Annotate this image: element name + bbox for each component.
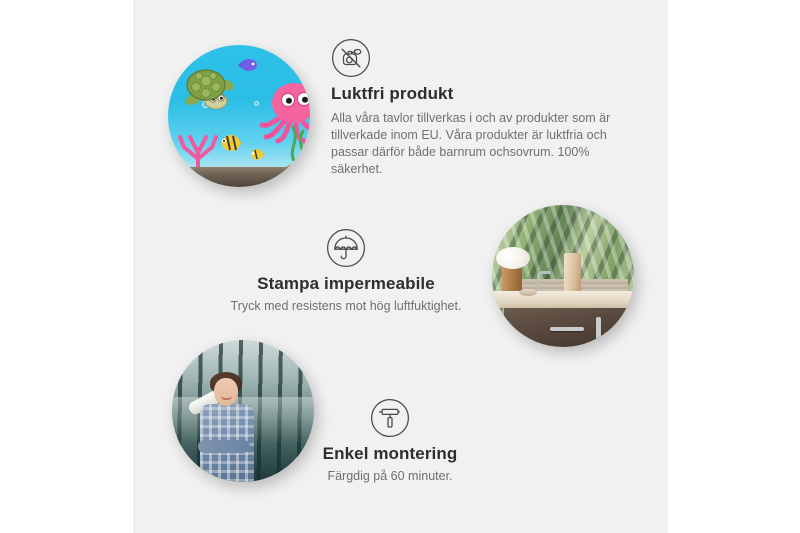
crossed-arms <box>198 440 250 453</box>
underwater-cartoon-circle-image <box>168 45 310 187</box>
door-handle <box>596 317 601 347</box>
fish-icon <box>220 133 244 153</box>
woman-figure <box>190 370 262 482</box>
face <box>214 378 238 406</box>
bathroom-leaf-wallpaper-circle-image <box>492 205 634 347</box>
feature-water-resistant: Stampa impermeabile Tryck med resistens … <box>205 228 487 315</box>
sea-background <box>168 45 310 187</box>
turtle-icon <box>182 67 234 109</box>
fish-icon <box>250 148 267 161</box>
feature-body: Alla våra tavlor tillverkas i och av pro… <box>331 110 627 178</box>
bath-wallpaper <box>492 205 634 347</box>
fish-icon <box>236 58 258 72</box>
no-fragrance-icon <box>331 38 371 78</box>
paint-roller-icon <box>370 398 410 438</box>
room-floor-strip <box>168 167 310 187</box>
feature-easy-mounting: Enkel montering Färgdig på 60 minuter. <box>292 398 488 485</box>
faucet-icon <box>537 271 551 293</box>
feature-body: Färgdig på 60 minuter. <box>292 468 488 485</box>
feature-odour-free: Luktfri produkt Alla våra tavlor tillver… <box>331 38 627 178</box>
umbrella-icon <box>326 228 366 268</box>
feature-title: Luktfri produkt <box>331 84 627 104</box>
seaweed-icon <box>286 121 308 161</box>
flowers-icon <box>496 247 530 269</box>
drawer-handle <box>550 327 584 331</box>
countertop <box>492 291 634 308</box>
infographic-stage: Luktfri produkt Alla våra tavlor tillver… <box>0 0 800 533</box>
feature-title: Enkel montering <box>292 444 488 464</box>
soap-dish-icon <box>519 289 537 296</box>
feature-body: Tryck med resistens mot hög luftfuktighe… <box>205 298 487 315</box>
feature-title: Stampa impermeabile <box>205 274 487 294</box>
